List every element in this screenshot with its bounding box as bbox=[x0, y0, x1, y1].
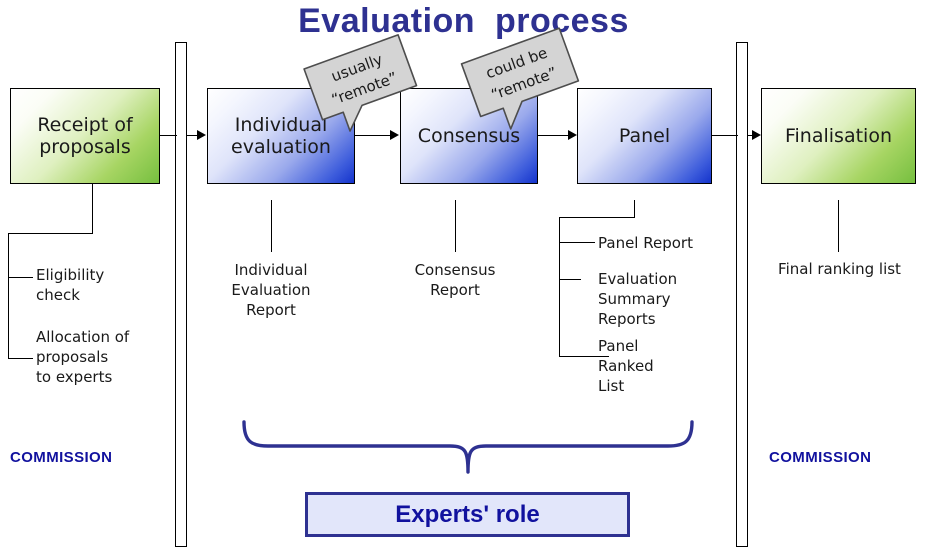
connector-consensus-to-panel bbox=[538, 135, 569, 136]
output-label-evaluation-summary-reports: Evaluation Summary Reports bbox=[598, 270, 748, 329]
individual-output-drop-line bbox=[271, 200, 272, 252]
output-label-final-ranking-list: Final ranking list bbox=[757, 260, 922, 280]
output-label-eligibility-check: Eligibility check bbox=[36, 266, 166, 306]
connector-panel-to-divider bbox=[712, 135, 738, 136]
arrow-head-to-individual bbox=[197, 130, 206, 140]
panel-output-elbow-top bbox=[559, 217, 635, 218]
output-label-panel-ranked-list: Panel Ranked List bbox=[598, 337, 728, 396]
callout-could-be-remote: could be “remote” bbox=[458, 36, 568, 96]
divider-bar-left bbox=[175, 42, 187, 547]
finalisation-output-drop-line bbox=[838, 200, 839, 252]
receipt-output-spine bbox=[8, 233, 9, 359]
panel-output-drop-line bbox=[634, 200, 635, 218]
connector-individual-to-consensus bbox=[355, 135, 391, 136]
output-label-consensus-report: Consensus Report bbox=[390, 261, 520, 301]
callout-usually-remote: usually “remote” bbox=[300, 42, 410, 102]
evaluation-process-diagram: Evaluation process Receipt of proposals … bbox=[0, 0, 927, 553]
connector-receipt-to-divider bbox=[160, 135, 177, 136]
consensus-output-drop-line bbox=[455, 200, 456, 252]
experts-role-brace bbox=[238, 416, 698, 482]
output-label-panel-report: Panel Report bbox=[598, 234, 758, 254]
arrow-head-to-panel bbox=[568, 130, 577, 140]
arrow-head-to-finalisation bbox=[752, 130, 761, 140]
panel-output-tick-1 bbox=[559, 242, 595, 243]
output-label-allocation-of-proposals: Allocation of proposals to experts bbox=[36, 328, 176, 387]
commission-label-left: COMMISSION bbox=[10, 449, 112, 466]
panel-output-spine bbox=[559, 217, 560, 357]
experts-role-box[interactable]: Experts' role bbox=[305, 492, 630, 537]
panel-output-tick-2 bbox=[559, 279, 581, 280]
receipt-output-elbow-top bbox=[8, 233, 93, 234]
receipt-output-drop-line bbox=[92, 184, 93, 234]
brace-path bbox=[244, 422, 692, 472]
output-label-individual-evaluation-report: Individual Evaluation Report bbox=[201, 261, 341, 320]
stage-box-receipt-of-proposals[interactable]: Receipt of proposals bbox=[10, 88, 160, 184]
receipt-output-tick-1 bbox=[8, 277, 33, 278]
receipt-output-tick-2 bbox=[8, 358, 33, 359]
commission-label-right: COMMISSION bbox=[769, 449, 871, 466]
stage-box-finalisation[interactable]: Finalisation bbox=[761, 88, 916, 184]
